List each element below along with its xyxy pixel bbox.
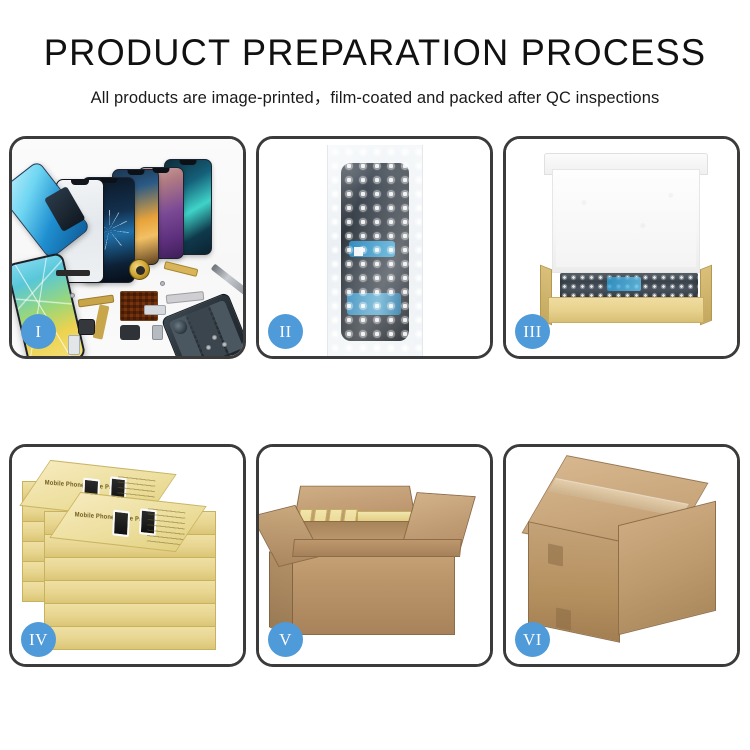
- antenna-strip-part-icon: [56, 270, 90, 276]
- step-panel-4[interactable]: Mobile Phone Spare Parts Mobile Phone Sp…: [9, 444, 246, 667]
- step-badge-2: II: [268, 314, 303, 349]
- button-part-icon: [152, 325, 163, 340]
- speaker-coil-part-icon: [129, 259, 150, 280]
- carton-front-flap-icon: [292, 539, 462, 557]
- page-subtitle: All products are image-printed，film-coat…: [0, 84, 750, 108]
- step-panel-6[interactable]: VI: [503, 444, 740, 667]
- carton-handle-tab-icon: [556, 607, 571, 630]
- step-badge-5: V: [268, 622, 303, 657]
- retail-box-icon: [44, 557, 216, 581]
- step-panel-5[interactable]: V: [256, 444, 493, 667]
- carton-handle-tab-icon: [548, 543, 563, 566]
- step-panel-1[interactable]: I: [9, 136, 246, 359]
- box-spec-list-icon: [147, 507, 186, 545]
- sim-tray-part-icon: [68, 335, 80, 355]
- bubble-wrap-bag-icon: [327, 145, 423, 356]
- page-title: PRODUCT PREPARATION PROCESS: [8, 34, 743, 73]
- foam-liner-icon: [556, 175, 696, 267]
- screw-icon: [206, 345, 211, 350]
- step-badge-6: VI: [515, 622, 550, 657]
- process-steps-grid: I II: [9, 136, 741, 667]
- camera-module-part-icon: [78, 319, 95, 335]
- step-badge-4: IV: [21, 622, 56, 657]
- plastic-sheen-icon: [328, 145, 422, 356]
- retail-box-icon: [44, 603, 216, 627]
- retail-box-icon: [44, 626, 216, 650]
- screw-icon: [212, 335, 217, 340]
- step-panel-3[interactable]: III: [503, 136, 740, 359]
- connector-part-icon: [144, 305, 166, 315]
- carton-front-face-icon: [291, 545, 455, 635]
- screw-icon: [160, 281, 165, 286]
- step-badge-1: I: [21, 314, 56, 349]
- screw-icon: [70, 293, 75, 298]
- retail-box-icon: [44, 580, 216, 604]
- step-badge-3: III: [515, 314, 550, 349]
- product-preparation-process-page: PRODUCT PREPARATION PROCESS All products…: [0, 0, 750, 750]
- box-art-phone-icon: [112, 510, 130, 538]
- page-header: PRODUCT PREPARATION PROCESS All products…: [0, 0, 750, 108]
- step-panel-2[interactable]: II: [256, 136, 493, 359]
- box-front-wall-icon: [548, 297, 704, 323]
- speaker-part-icon: [120, 325, 140, 340]
- screw-icon: [222, 342, 227, 347]
